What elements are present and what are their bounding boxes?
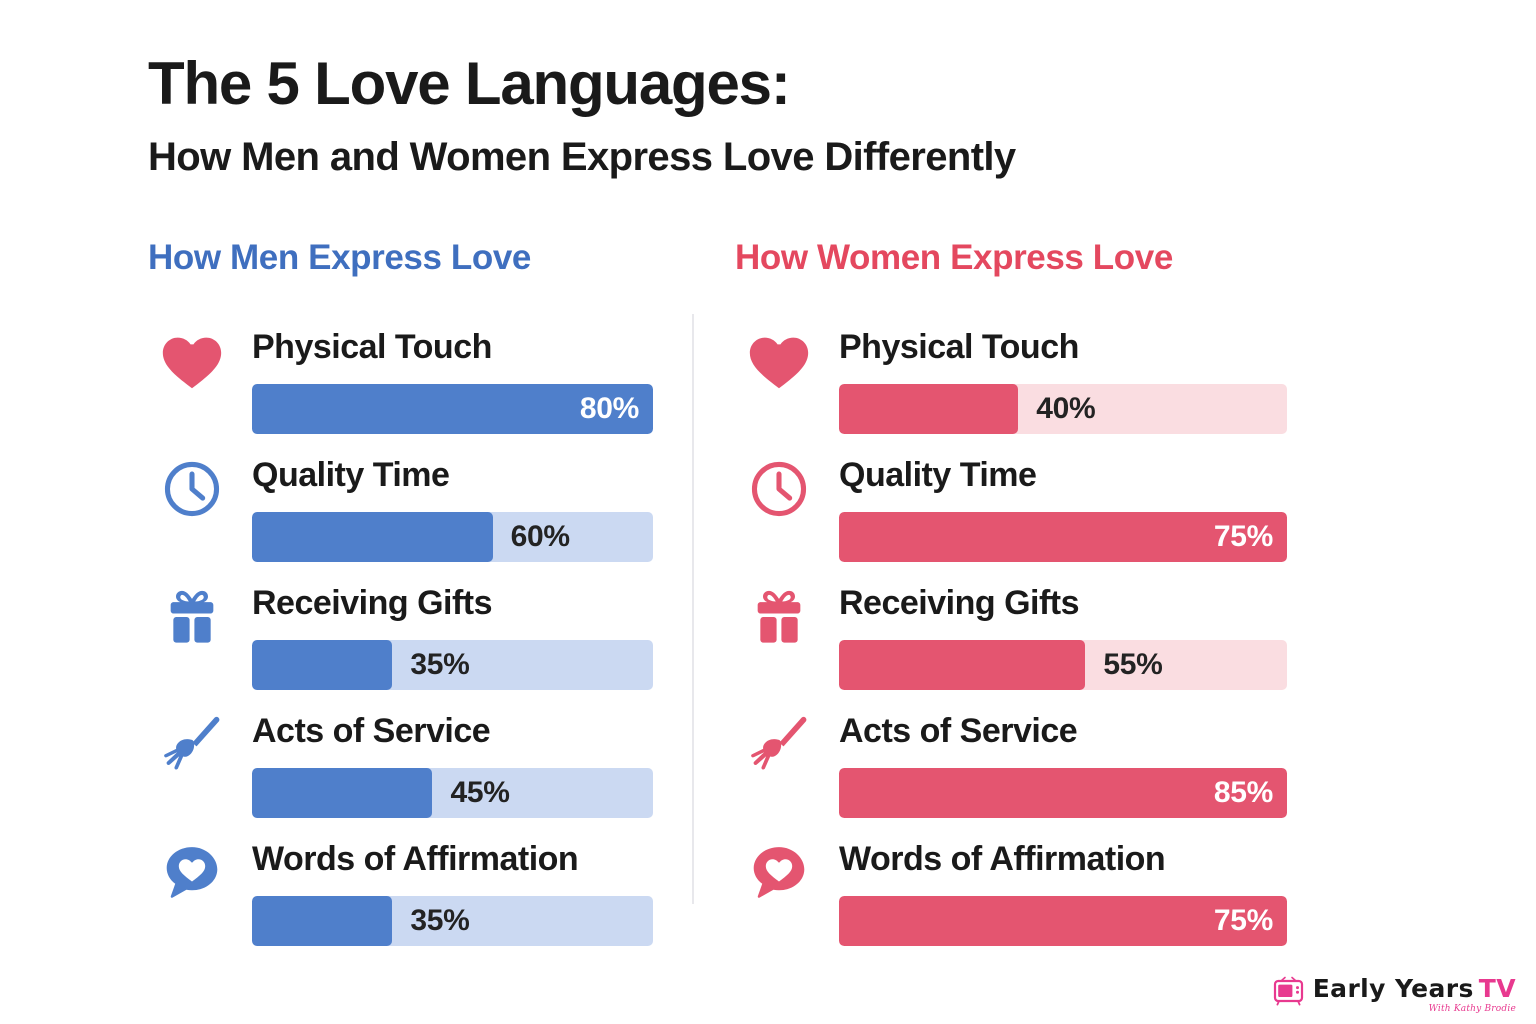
column-heading-men: How Men Express Love — [148, 238, 653, 278]
retro-tv-icon — [1272, 976, 1306, 1011]
progress-bar-value: 45% — [450, 768, 509, 818]
chart-row: Physical Touch 80% — [148, 318, 653, 446]
row-label: Words of Affirmation — [839, 840, 1165, 879]
column-men: How Men Express Love Physical Touch 80% … — [148, 238, 653, 958]
chart-row: Acts of Service 85% — [735, 702, 1287, 830]
progress-bar-fill — [252, 512, 493, 562]
logo-tagline: With Kathy Brodie — [1429, 1005, 1516, 1014]
infographic-header: The 5 Love Languages: How Men and Women … — [148, 52, 1398, 179]
chart-row: Receiving Gifts 55% — [735, 574, 1287, 702]
row-label: Physical Touch — [839, 328, 1079, 367]
clock-icon — [148, 450, 236, 528]
progress-bar-fill — [839, 384, 1018, 434]
progress-bar-track: 75% — [839, 512, 1287, 562]
progress-bar-value: 40% — [1036, 384, 1095, 434]
gift-icon — [148, 578, 236, 656]
row-label: Acts of Service — [839, 712, 1077, 751]
column-women: How Women Express Love Physical Touch 40… — [735, 238, 1287, 958]
row-label: Acts of Service — [252, 712, 490, 751]
speech-heart-icon — [148, 834, 236, 912]
page-title: The 5 Love Languages: — [148, 52, 1398, 115]
logo-brand: Early Years — [1313, 976, 1474, 1001]
progress-bar-value: 75% — [1214, 512, 1273, 562]
progress-bar-track: 40% — [839, 384, 1287, 434]
progress-bar-fill — [252, 896, 392, 946]
column-heading-women: How Women Express Love — [735, 238, 1287, 278]
clock-icon — [735, 450, 823, 528]
chart-row: Quality Time 75% — [735, 446, 1287, 574]
page-subtitle: How Men and Women Express Love Different… — [148, 135, 1398, 179]
progress-bar-track: 55% — [839, 640, 1287, 690]
progress-bar-track: 80% — [252, 384, 653, 434]
gift-icon — [735, 578, 823, 656]
chart-row: Receiving Gifts 35% — [148, 574, 653, 702]
row-label: Physical Touch — [252, 328, 492, 367]
row-label: Words of Affirmation — [252, 840, 578, 879]
progress-bar-track: 85% — [839, 768, 1287, 818]
broom-icon — [148, 706, 236, 784]
logo-suffix: TV — [1479, 976, 1516, 1001]
row-label: Receiving Gifts — [252, 584, 492, 623]
heart-icon — [148, 322, 236, 400]
comparison-columns: How Men Express Love Physical Touch 80% … — [0, 238, 1536, 938]
chart-row: Quality Time 60% — [148, 446, 653, 574]
progress-bar-fill — [839, 640, 1085, 690]
chart-row: Words of Affirmation 35% — [148, 830, 653, 958]
progress-bar-track: 45% — [252, 768, 653, 818]
progress-bar-value: 75% — [1214, 896, 1273, 946]
broom-icon — [735, 706, 823, 784]
chart-row: Acts of Service 45% — [148, 702, 653, 830]
progress-bar-value: 60% — [511, 512, 570, 562]
progress-bar-track: 75% — [839, 896, 1287, 946]
brand-logo[interactable]: Early Years TV With Kathy Brodie — [1272, 976, 1516, 1014]
logo-wordmark: Early Years TV — [1313, 976, 1516, 1001]
heart-icon — [735, 322, 823, 400]
progress-bar-value: 55% — [1103, 640, 1162, 690]
progress-bar-fill — [252, 768, 432, 818]
logo-text: Early Years TV With Kathy Brodie — [1313, 976, 1516, 1014]
speech-heart-icon — [735, 834, 823, 912]
progress-bar-value: 35% — [410, 896, 469, 946]
progress-bar-fill — [252, 640, 392, 690]
progress-bar-track: 35% — [252, 640, 653, 690]
chart-row: Physical Touch 40% — [735, 318, 1287, 446]
row-label: Quality Time — [252, 456, 449, 495]
column-divider — [692, 314, 694, 904]
row-label: Receiving Gifts — [839, 584, 1079, 623]
progress-bar-value: 80% — [580, 384, 639, 434]
row-label: Quality Time — [839, 456, 1036, 495]
progress-bar-value: 35% — [410, 640, 469, 690]
progress-bar-track: 60% — [252, 512, 653, 562]
progress-bar-track: 35% — [252, 896, 653, 946]
progress-bar-value: 85% — [1214, 768, 1273, 818]
chart-row: Words of Affirmation 75% — [735, 830, 1287, 958]
